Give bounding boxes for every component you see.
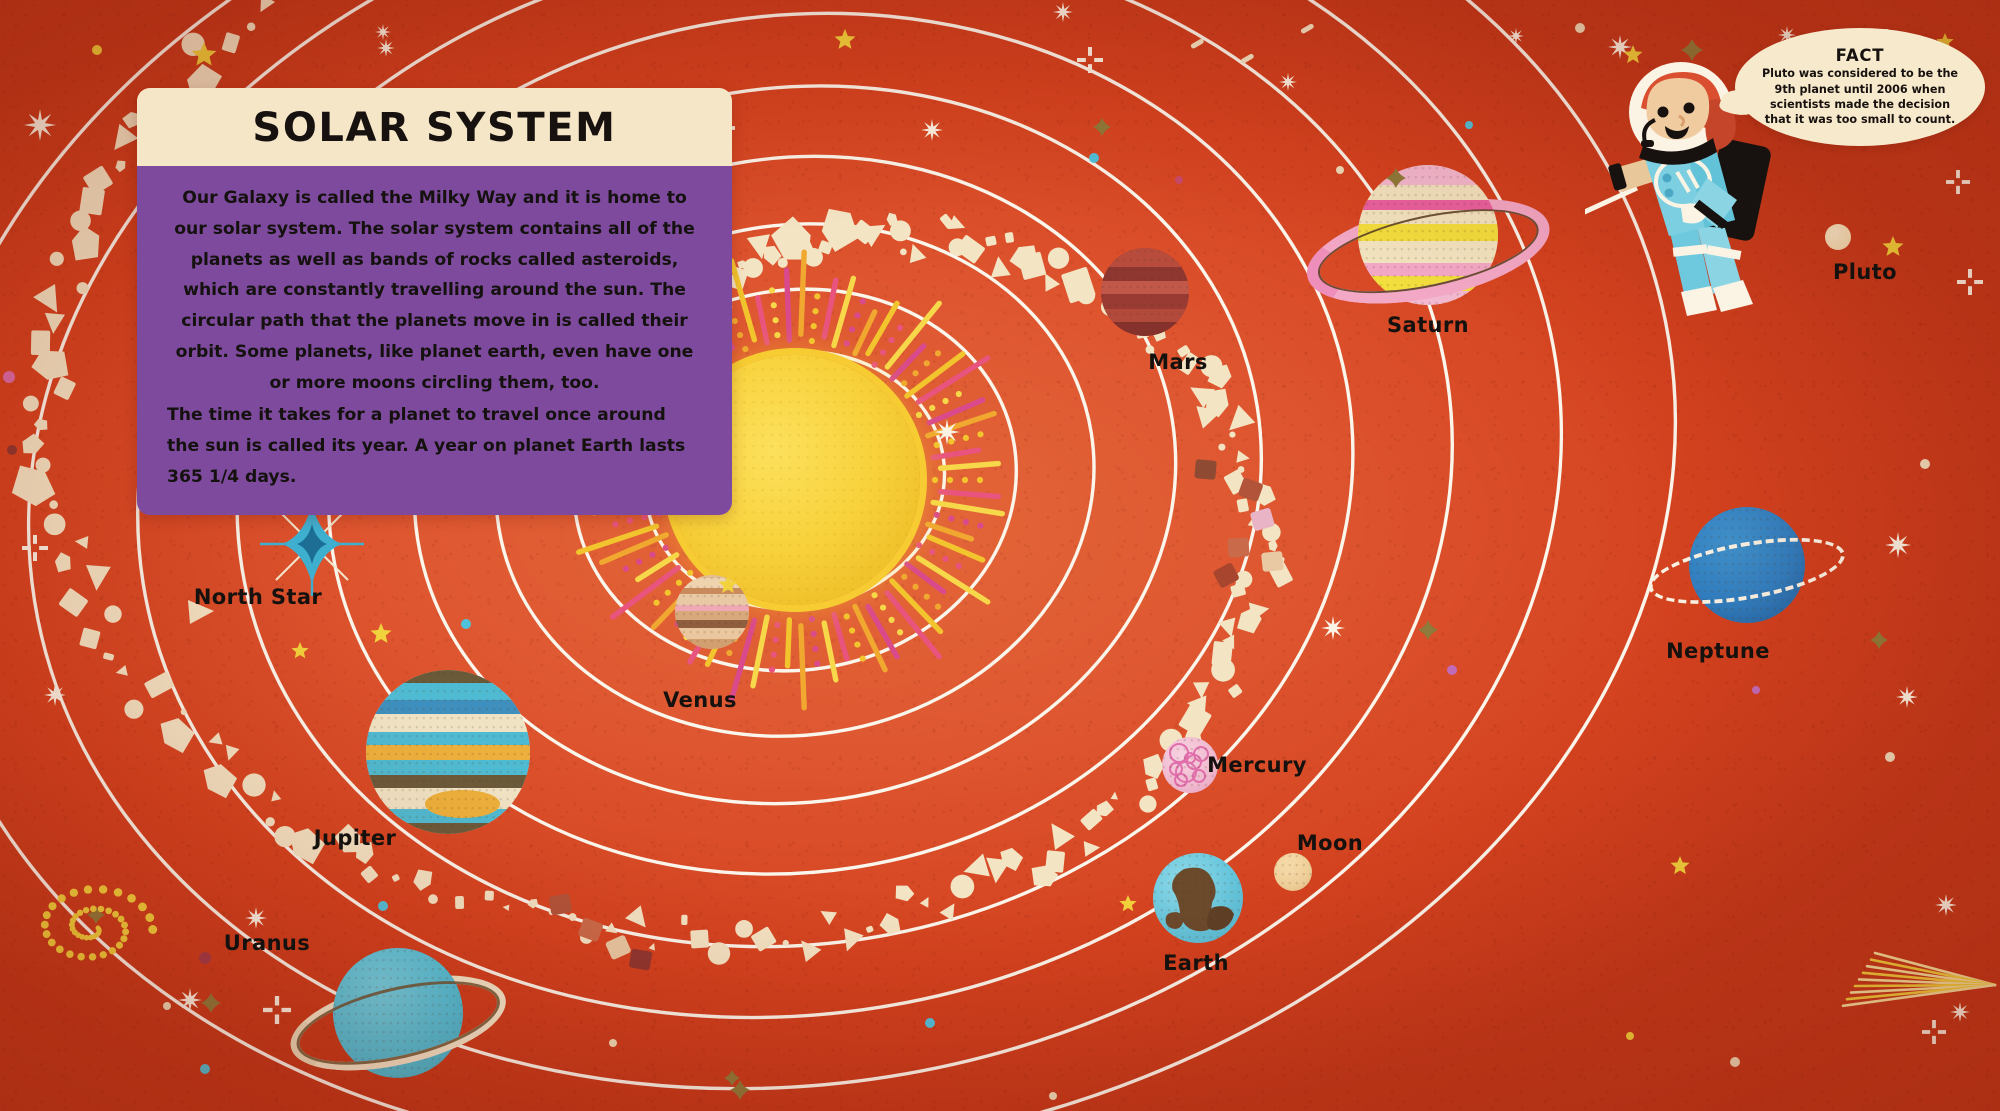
label-mercury: Mercury (1207, 753, 1307, 777)
label-jupiter: Jupiter (314, 826, 396, 850)
label-moon: Moon (1297, 831, 1363, 855)
label-uranus: Uranus (224, 931, 310, 955)
label-saturn: Saturn (1387, 313, 1469, 337)
label-mars: Mars (1148, 350, 1208, 374)
label-pluto: Pluto (1833, 260, 1897, 284)
solar-system-poster: SOLAR SYSTEM Our Galaxy is called the Mi… (0, 0, 2000, 1111)
label-earth: Earth (1163, 951, 1229, 975)
planet-labels: VenusMercuryEarthMoonMarsJupiterSaturnUr… (0, 0, 2000, 1111)
label-venus: Venus (663, 688, 737, 712)
fact-title: FACT (1836, 46, 1885, 65)
fact-text: Pluto was considered to be the 9th plane… (1758, 66, 1963, 128)
label-neptune: Neptune (1666, 639, 1770, 663)
label-north-star: North Star (194, 585, 322, 609)
